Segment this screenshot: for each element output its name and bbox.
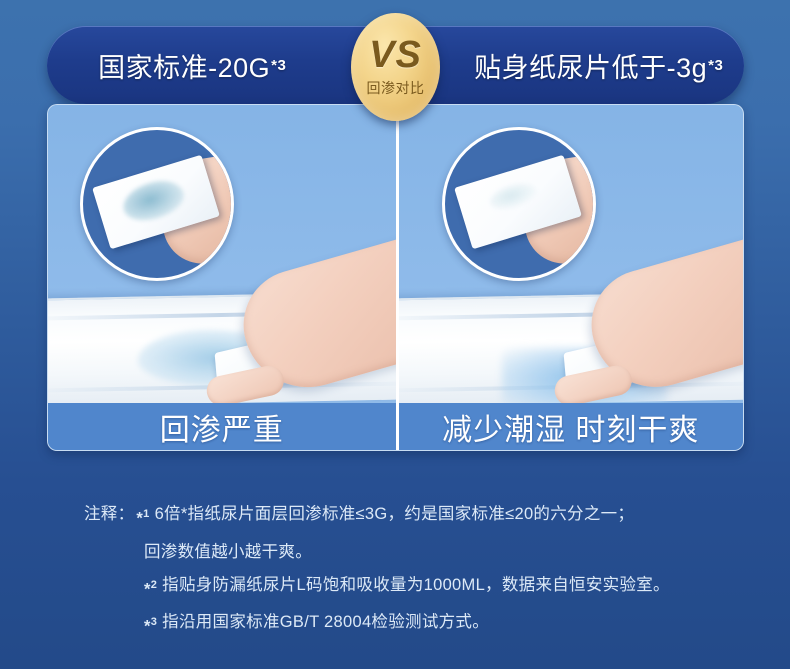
header-left-text: 国家标准-20G <box>98 46 270 85</box>
header-left-headline: 国家标准-20G*3 <box>47 46 396 85</box>
footnote-text-4: 指沿用国家标准GB/T 28004检验测试方式。 <box>162 606 489 644</box>
footnote-text-3: 指贴身防漏纸尿片L码饱和吸收量为1000ML，数据来自恒安实验室。 <box>162 569 670 607</box>
header-left-superscript: *3 <box>271 57 286 74</box>
vs-badge-main-label: VS <box>369 36 422 74</box>
footnote-row-3: *2 指贴身防漏纸尿片L码饱和吸收量为1000ML，数据来自恒安实验室。 <box>26 569 764 607</box>
tissue-stain-faint <box>486 179 538 214</box>
header-right-superscript: *3 <box>708 57 723 74</box>
comparison-panel-right: 减少潮湿 时刻干爽 <box>396 105 744 450</box>
footnote-row-1: 注释： *1 6倍*指纸尿片面层回渗标准≤3G，约是国家标准≤20的六分之一； <box>26 498 764 536</box>
vs-badge: VS 回渗对比 <box>351 13 440 121</box>
footnote-mark-1: *1 <box>136 498 149 536</box>
footnotes-block: 注释： *1 6倍*指纸尿片面层回渗标准≤3G，约是国家标准≤20的六分之一； … <box>0 498 790 644</box>
footnote-row-4: *3 指沿用国家标准GB/T 28004检验测试方式。 <box>26 606 764 644</box>
footnote-text-1: 6倍*指纸尿片面层回渗标准≤3G，约是国家标准≤20的六分之一； <box>155 498 635 536</box>
comparison-card: 回渗严重 减少潮湿 时刻干爽 <box>47 104 744 451</box>
tissue-stain-heavy <box>119 174 189 227</box>
header-right-text: 贴身纸尿片低于-3g <box>474 46 707 85</box>
closeup-inset-left <box>80 127 234 281</box>
caption-bar-right: 减少潮湿 时刻干爽 <box>399 403 744 450</box>
caption-bar-left: 回渗严重 <box>48 403 396 450</box>
footnotes-title: 注释： <box>84 498 134 536</box>
footnote-row-2: 回渗数值越小越干爽。 <box>26 536 764 569</box>
comparison-panel-left: 回渗严重 <box>48 105 396 450</box>
footnote-mark-3: *3 <box>144 606 157 644</box>
vs-badge-sub-label: 回渗对比 <box>367 78 425 98</box>
closeup-inset-right <box>442 127 596 281</box>
footnote-mark-2: *2 <box>144 569 157 607</box>
header-right-headline: 贴身纸尿片低于-3g*3 <box>396 46 745 85</box>
footnote-text-2: 回渗数值越小越干爽。 <box>144 536 312 569</box>
